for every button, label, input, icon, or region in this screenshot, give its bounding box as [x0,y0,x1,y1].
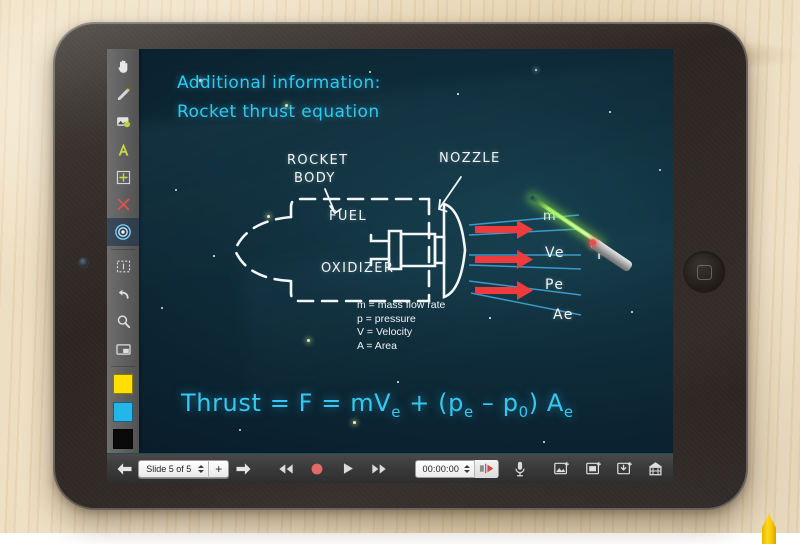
timecode-stepper[interactable] [463,461,474,477]
rewind-button[interactable] [275,457,295,481]
fast-forward-button[interactable] [369,457,389,481]
text-tool[interactable] [107,136,139,164]
zoom-tool[interactable] [107,308,139,336]
shapes-icon [115,113,132,130]
swatch-black[interactable] [107,425,139,453]
label-nozzle: NOZZLE [439,151,501,166]
toolbar-divider [111,249,135,250]
play-triangle-icon [341,462,355,475]
hand-tool[interactable] [107,53,139,81]
label-fuel: FUEL [329,209,367,224]
picture-in-picture-tool[interactable] [107,336,139,364]
slide-plus-icon [586,461,602,476]
magnifier-icon [115,313,132,330]
target-icon [114,223,132,241]
shapes-tool[interactable] [107,108,139,136]
thrust-arrows [475,220,533,300]
home-square-icon [697,265,712,280]
laser-pointer-tool[interactable] [107,218,139,246]
label-ve: Ve [545,245,565,261]
microphone-icon [513,461,527,477]
pencil-icon [115,86,132,103]
label-ae: Ae [553,307,574,323]
color-swatch [113,402,133,422]
slide-counter-label: Slide 5 of 5 [139,464,197,474]
arrow-right-icon [235,462,252,476]
arrow-left-icon [116,462,133,476]
microphone-button[interactable] [510,457,530,481]
label-oxidizer: OXIDIZER [321,261,394,276]
slide-stepper[interactable] [197,461,208,477]
equation-sub: 0 [519,403,529,421]
equation-part: – p [474,389,519,417]
equation-part: ) A [529,389,564,417]
bottom-control-bar: Slide 5 of 5 + [107,453,673,483]
marker-jump-button[interactable] [474,460,498,478]
plus-box-icon [115,169,132,186]
slide-canvas[interactable]: Additional information: Rocket thrust eq… [139,49,673,453]
rewind-icon [278,463,294,475]
color-swatch [113,374,133,394]
equation-part: + (p [401,389,464,417]
marker-icon [479,463,495,474]
delete-tool[interactable] [107,191,139,219]
pip-icon [115,341,132,358]
label-rocket-body-2: BODY [294,171,336,186]
tablet-device: Additional information: Rocket thrust eq… [53,22,748,510]
library-home-button[interactable] [646,457,666,481]
previous-slide-button[interactable] [114,457,134,481]
front-camera-icon [79,258,88,267]
legend-item: m = mass flow rate [357,299,445,313]
equation-sub: e [391,403,401,421]
record-button[interactable] [307,457,327,481]
pencil-tool[interactable] [107,81,139,109]
label-rocket-body-1: ROCKET [287,153,348,168]
color-swatch [113,429,133,449]
fast-forward-icon [371,463,387,475]
thrust-equation: Thrust = F = mVe + (pe – p0) Ae [181,389,574,421]
text-a-icon [115,141,132,158]
x-icon [115,196,132,213]
home-library-icon [648,461,663,476]
next-slide-button[interactable] [233,457,253,481]
add-slide-media-button[interactable] [583,457,603,481]
slide-counter-field[interactable]: Slide 5 of 5 + [138,460,229,478]
equation-part: Thrust = F = mV [181,389,391,417]
import-button[interactable] [615,457,635,481]
record-circle-icon [310,462,324,476]
swatch-yellow[interactable] [107,370,139,398]
timecode-field[interactable]: 00:00:00 [415,460,500,478]
app-workspace: Additional information: Rocket thrust eq… [107,49,673,453]
select-tool[interactable] [107,253,139,281]
add-slide-button[interactable]: + [208,460,228,478]
tablet-screen: Additional information: Rocket thrust eq… [107,49,673,483]
equation-sub: e [464,403,474,421]
swatch-cyan[interactable] [107,398,139,426]
play-button[interactable] [338,457,358,481]
label-pe: Pe [545,277,564,293]
toolbar-divider [111,366,135,367]
add-image-button[interactable] [552,457,572,481]
home-button[interactable] [682,250,726,294]
undo-arrow-icon [115,286,132,303]
legend-item: V = Velocity [357,326,445,340]
legend-item: p = pressure [357,313,445,327]
undo-tool[interactable] [107,281,139,309]
legend-list: m = mass flow rate p = pressure V = Velo… [357,299,445,353]
timecode-value: 00:00:00 [416,464,464,474]
legend-item: A = Area [357,340,445,354]
marquee-icon [115,258,132,275]
equation-sub: e [564,403,574,421]
hand-icon [115,58,132,75]
import-download-icon [617,461,633,476]
tool-sidebar [107,49,139,453]
image-plus-icon [554,461,570,476]
add-tool[interactable] [107,163,139,191]
